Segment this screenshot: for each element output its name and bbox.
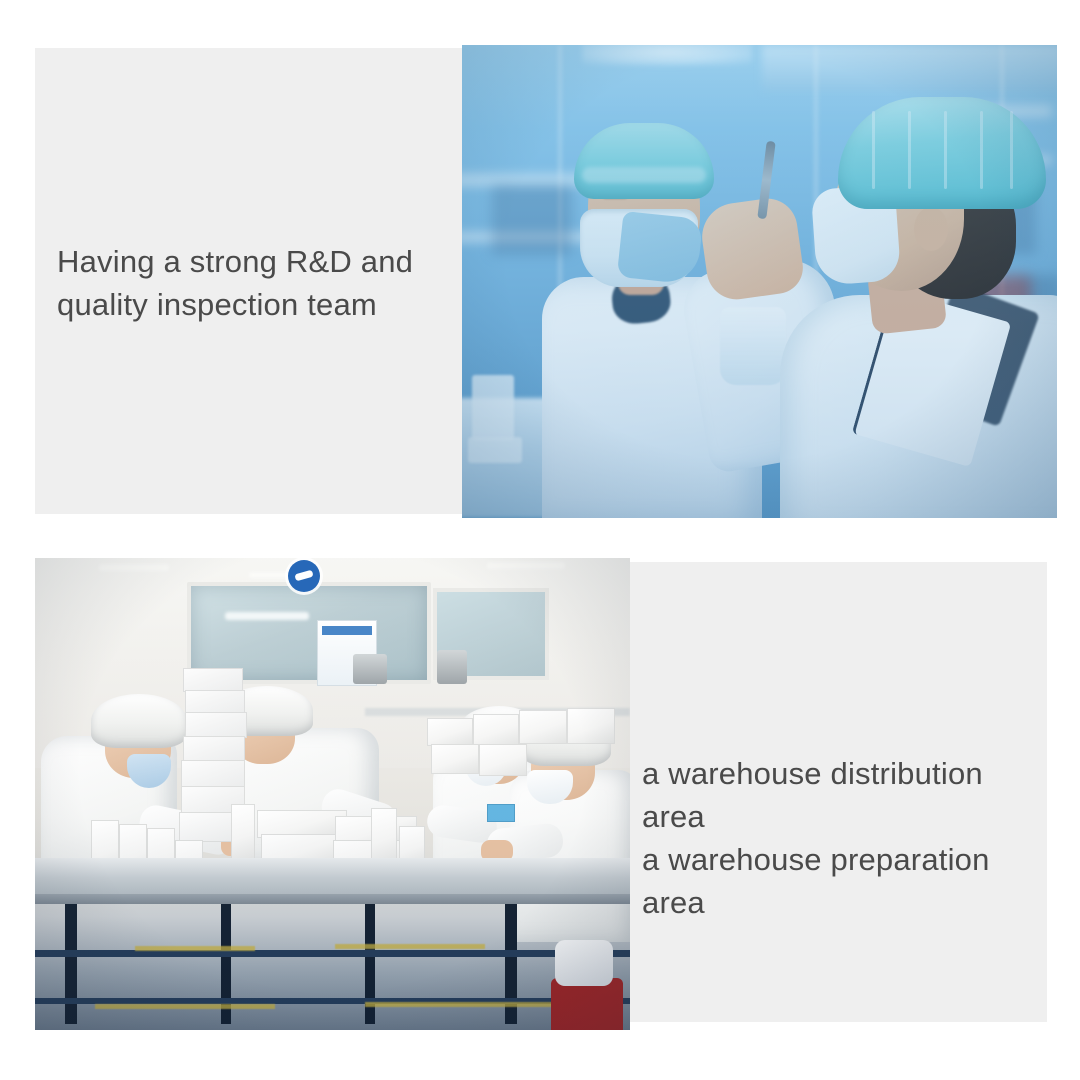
ceiling-lamp — [99, 564, 169, 571]
worker-1-hairnet — [91, 694, 187, 748]
ceiling-light — [582, 45, 752, 65]
carton — [185, 690, 245, 714]
warehouse-caption: a warehouse distribution area a warehous… — [642, 752, 1042, 924]
lab-quality-inspection-photo — [462, 45, 1057, 518]
warehouse-packing-photo — [35, 558, 630, 1030]
carton — [183, 668, 243, 692]
ceiling-panel — [762, 45, 1057, 91]
technician-right-ear — [914, 207, 948, 251]
blue-circular-sign — [288, 560, 320, 592]
bottle — [231, 804, 255, 864]
floor-marking — [365, 1002, 565, 1007]
table-rail — [35, 950, 630, 957]
technician-left-hairnet — [574, 123, 714, 199]
lab-equipment — [492, 185, 572, 255]
blue-label — [487, 804, 515, 822]
hairnet-pleat — [908, 111, 911, 189]
carton — [431, 744, 479, 774]
floor-marking — [335, 944, 485, 949]
floor-marking — [95, 1004, 275, 1009]
carton — [479, 744, 527, 776]
technician-right-hand — [698, 195, 806, 303]
flask — [720, 307, 786, 385]
collage-canvas: Having a strong R&D and quality inspecti… — [0, 0, 1080, 1080]
carton — [427, 718, 473, 746]
carton — [567, 708, 615, 744]
steel-pot — [437, 650, 467, 684]
beaker — [468, 437, 522, 463]
hairnet-pleat — [872, 111, 875, 189]
steel-pot — [353, 654, 387, 684]
ceiling-lamp — [487, 562, 565, 569]
hairnet-pleat — [944, 111, 947, 189]
worker-lower-coat — [555, 940, 613, 986]
rnd-quality-caption: Having a strong R&D and quality inspecti… — [57, 240, 457, 326]
carton — [473, 714, 519, 746]
carton — [519, 710, 567, 744]
hairnet-pleat — [1010, 111, 1013, 189]
carton — [185, 712, 247, 738]
table-leg — [65, 904, 77, 1024]
window-interior-light — [225, 612, 309, 620]
beaker — [472, 375, 514, 441]
carton — [181, 760, 245, 788]
floor-marking — [135, 946, 255, 951]
hairnet-pleat — [980, 111, 983, 189]
under-table-area — [35, 902, 630, 1030]
carton — [183, 736, 245, 762]
